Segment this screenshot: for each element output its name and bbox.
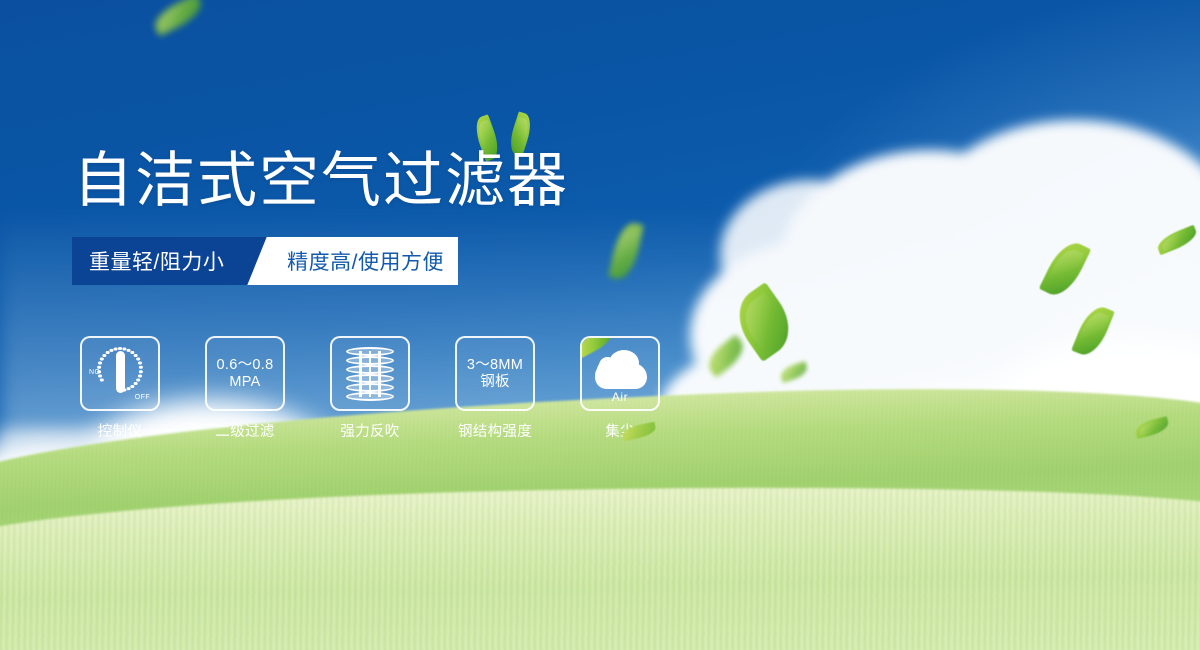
feature-box: 0.6～0.8 MPA — [205, 336, 285, 411]
grass-field — [0, 430, 1200, 650]
feature-box — [330, 336, 410, 411]
subtitle-left-text: 重量轻/阻力小 — [72, 237, 240, 285]
feature-box: Air — [580, 336, 660, 411]
dial-no-label: NO — [89, 369, 100, 376]
feature-label: 钢结构强度 — [455, 420, 535, 441]
pressure-line-2: MPA — [217, 374, 274, 391]
feature-label: 强力反吹 — [330, 420, 410, 441]
air-cloud-icon: Air — [589, 346, 651, 402]
subtitle-right-text: 精度高/使用方便 — [240, 237, 458, 285]
feature-box: 3～8MM 钢板 — [455, 336, 535, 411]
feature-item-steel[interactable]: 3～8MM 钢板 钢结构强度 — [455, 336, 535, 441]
feature-label: 集尘 — [580, 420, 660, 441]
dial-pointer — [116, 351, 125, 393]
control-dial-icon: NO OFF — [89, 345, 151, 403]
feature-box: NO OFF — [80, 336, 160, 411]
page-title: 自洁式空气过滤器 — [73, 148, 569, 214]
steel-line-1: 3～8MM — [467, 357, 523, 374]
dial-off-label: OFF — [135, 394, 150, 401]
air-label: Air — [589, 390, 651, 404]
feature-item-blowback[interactable]: 强力反吹 — [330, 336, 410, 441]
cloud-body — [595, 363, 647, 389]
pressure-text-icon: 0.6～0.8 MPA — [217, 357, 274, 391]
steel-line-2: 钢板 — [467, 374, 523, 391]
feature-label: 控制仪 — [80, 420, 160, 441]
feature-list: NO OFF 控制仪 0.6～0.8 MPA 二级过滤 — [80, 336, 660, 441]
subtitle-bar: 重量轻/阻力小 精度高/使用方便 — [72, 237, 458, 285]
feature-label: 二级过滤 — [205, 420, 285, 441]
steel-plate-text-icon: 3～8MM 钢板 — [467, 357, 523, 391]
feature-item-control[interactable]: NO OFF 控制仪 — [80, 336, 160, 441]
pressure-line-1: 0.6～0.8 — [217, 357, 274, 374]
product-banner: 自洁式空气过滤器 重量轻/阻力小 精度高/使用方便 NO OFF 控制仪 0.6… — [0, 0, 1200, 650]
coil-filter-icon — [346, 347, 394, 401]
feature-item-pressure[interactable]: 0.6～0.8 MPA 二级过滤 — [205, 336, 285, 441]
feature-item-dust[interactable]: Air 集尘 — [580, 336, 660, 441]
